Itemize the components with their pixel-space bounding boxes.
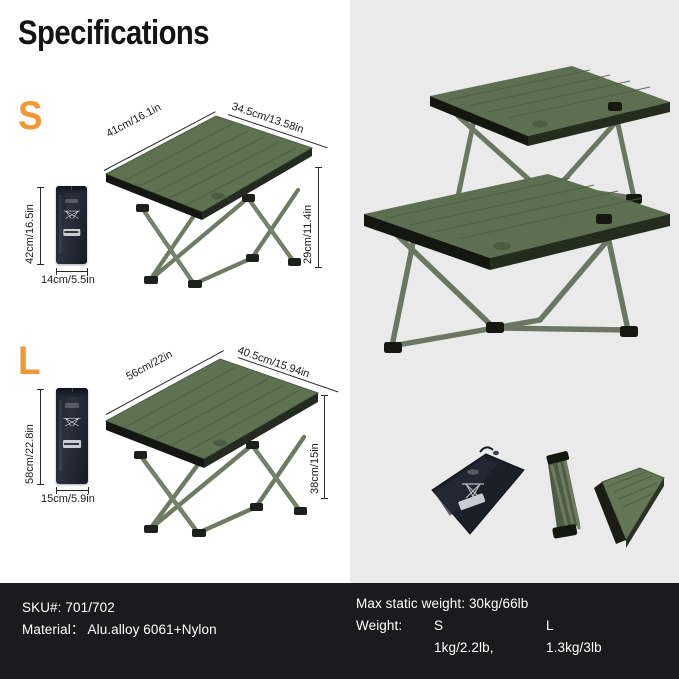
weight-header-row: Weight: S L: [356, 615, 602, 637]
product-photo-stacked-tables: [352, 28, 678, 368]
bag-height-cap-bottom-s: [37, 264, 44, 265]
table-illustration-s: [98, 112, 313, 302]
table-height-label-l: 38cm/15in: [309, 402, 321, 494]
sku-line: SKU#: 701/702: [22, 597, 217, 619]
bag-label-patch-l: [63, 440, 81, 449]
size-badge-s: S: [18, 96, 43, 136]
max-static-weight-line: Max static weight: 30kg/66lb: [356, 593, 602, 615]
weight-label: Weight:: [356, 615, 434, 637]
bag-table-graphic-l: [63, 414, 82, 429]
bag-height-rule-s: [40, 187, 41, 264]
footer-left-column: SKU#: 701/702 Material： Alu.alloy 6061+N…: [22, 597, 217, 641]
weight-header-l: L: [546, 615, 554, 637]
bag-height-cap-bottom-l: [37, 484, 44, 485]
bag-height-cap-top-s: [37, 187, 44, 188]
bag-cord-l: [72, 388, 73, 392]
weight-header-s: S: [434, 615, 546, 637]
table-height-cap-top-s: [315, 167, 322, 168]
weight-value-row: 1kg/2.2lb, 1.3kg/3lb: [434, 637, 602, 659]
bag-width-rule-l: [56, 490, 88, 491]
table-height-cap-bottom-s: [315, 267, 322, 268]
table-illustration-l: [100, 355, 320, 550]
bag-height-cap-top-l: [37, 389, 44, 390]
table-height-rule-s: [318, 167, 319, 267]
bag-width-label-s: 14cm/5.5in: [41, 274, 95, 286]
carry-bag-l: [56, 388, 88, 484]
weight-value-s: 1kg/2.2lb,: [434, 637, 546, 659]
product-photo-packed-components: [420, 440, 670, 560]
table-height-cap-top-l: [321, 395, 328, 396]
table-height-rule-l: [324, 395, 325, 498]
table-height-label-s: 29cm/11.4in: [302, 172, 314, 264]
bag-highlight-l: [59, 400, 63, 471]
table-height-cap-bottom-l: [321, 498, 328, 499]
bag-brand-logo: [65, 199, 79, 203]
size-badge-l: L: [18, 341, 40, 381]
bag-height-label-s: 42cm/16.5in: [24, 188, 36, 264]
bag-cord: [71, 186, 72, 190]
weight-value-l: 1.3kg/3lb: [546, 637, 602, 659]
specification-sheet: Specifications S 42cm/16.5in 14cm/5.5in: [0, 0, 679, 679]
bag-width-rule-s: [56, 271, 87, 272]
carry-bag-s: [56, 186, 87, 264]
material-line: Material： Alu.alloy 6061+Nylon: [22, 619, 217, 641]
footer-bar: SKU#: 701/702 Material： Alu.alloy 6061+N…: [0, 583, 679, 679]
footer-right-column: Max static weight: 30kg/66lb Weight: S L…: [356, 593, 602, 659]
panel-divider: [348, 0, 350, 583]
bag-height-rule-l: [40, 389, 41, 484]
bag-height-label-l: 58cm/22.8in: [24, 390, 36, 484]
bag-width-label-l: 15cm/5.9in: [41, 493, 95, 505]
bag-label-patch: [63, 229, 80, 236]
bag-table-graphic: [63, 208, 81, 220]
bag-highlight: [59, 195, 63, 253]
bag-brand-logo-l: [65, 403, 79, 408]
page-title: Specifications: [18, 14, 209, 53]
